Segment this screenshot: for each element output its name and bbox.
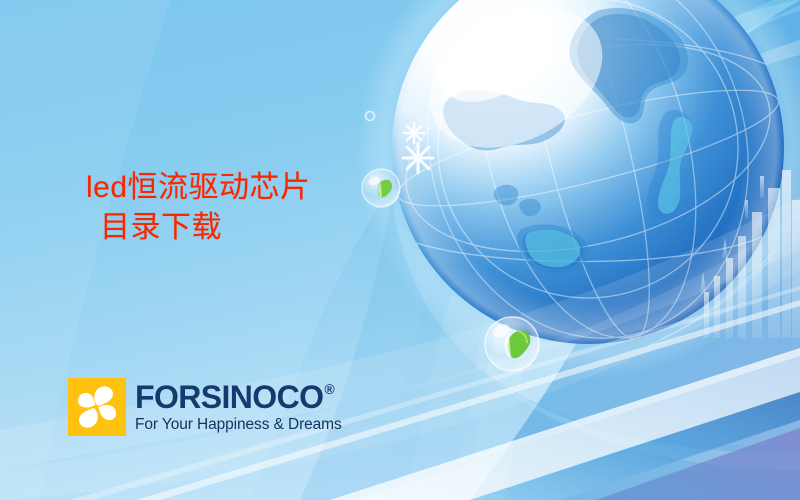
bubble-large: [485, 317, 539, 371]
brand-name-row: FORSINOCO ®: [135, 381, 342, 413]
brand-tagline: For Your Happiness & Dreams: [135, 417, 342, 433]
bubble-small: [362, 169, 400, 207]
logo-wordmark: FORSINOCO ® For Your Happiness & Dreams: [135, 378, 342, 433]
registered-trademark-icon: ®: [324, 382, 334, 396]
company-logo: FORSINOCO ® For Your Happiness & Dreams: [68, 378, 342, 436]
brand-name: FORSINOCO: [135, 381, 323, 413]
headline-line-1: led恒流驱动芯片: [86, 171, 311, 204]
page-title: led恒流驱动芯片 目录下载: [86, 168, 311, 247]
logo-mark-icon: [68, 378, 126, 436]
slide-canvas: led恒流驱动芯片 目录下载 FORSINOCO ® For Your Happ…: [0, 0, 800, 500]
headline-line-2: 目录下载: [86, 208, 311, 248]
